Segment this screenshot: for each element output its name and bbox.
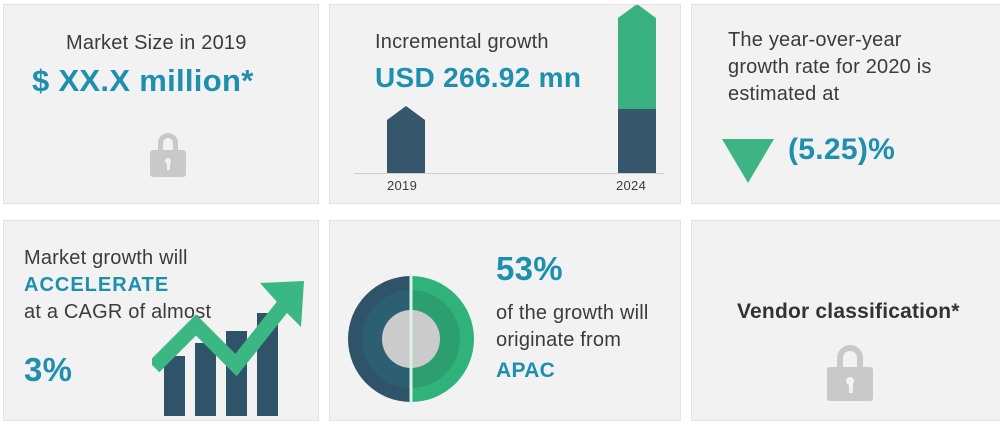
apac-line-1: of the growth will [496, 302, 649, 324]
incremental-growth-value: USD 266.92 mn [375, 62, 581, 94]
incremental-growth-label: Incremental growth [375, 29, 549, 56]
card-cagr: Market growth will ACCELERATE at a CAGR … [3, 220, 319, 421]
vendor-lock [827, 345, 873, 401]
yoy-line-2: growth rate for 2020 is [728, 56, 932, 78]
growth-arrow-chart-icon [152, 271, 317, 416]
tick-label-2019: 2019 [387, 178, 417, 193]
bar-2019 [387, 120, 425, 173]
yoy-growth-value: (5.25)% [788, 133, 895, 167]
yoy-growth-label: The year-over-year growth rate for 2020 … [728, 27, 932, 108]
apac-description: of the growth will originate from [496, 300, 649, 354]
apac-line-2: originate from [496, 329, 621, 351]
triangle-down-icon [722, 139, 774, 183]
apac-percent: 53% [496, 250, 563, 288]
bar-2024 [618, 18, 656, 173]
chart-axis-line [354, 173, 664, 174]
card-yoy-growth: The year-over-year growth rate for 2020 … [691, 4, 1000, 204]
market-size-value: $ XX.X million* [32, 63, 254, 99]
card-market-size: Market Size in 2019 $ XX.X million* [3, 4, 319, 204]
cagr-line-1: Market growth will [24, 245, 211, 272]
market-size-label: Market Size in 2019 [66, 30, 247, 57]
donut-chart-icon [346, 274, 476, 404]
apac-region: APAC [496, 359, 555, 383]
cagr-value: 3% [24, 351, 72, 389]
card-apac: 53% of the growth will originate from AP… [329, 220, 681, 421]
yoy-line-1: The year-over-year [728, 29, 902, 51]
lock-icon [827, 345, 873, 401]
vendor-classification-label: Vendor classification* [737, 300, 960, 324]
card-vendor: Vendor classification* [691, 220, 1000, 421]
tick-label-2024: 2024 [616, 178, 646, 193]
card-incremental-growth: Incremental growth USD 266.92 mn 2019 20… [329, 4, 681, 204]
lock-icon [150, 133, 186, 177]
market-size-lock [150, 133, 186, 177]
infographic-grid: Market Size in 2019 $ XX.X million* Incr… [0, 0, 1000, 441]
yoy-line-3: estimated at [728, 83, 839, 105]
